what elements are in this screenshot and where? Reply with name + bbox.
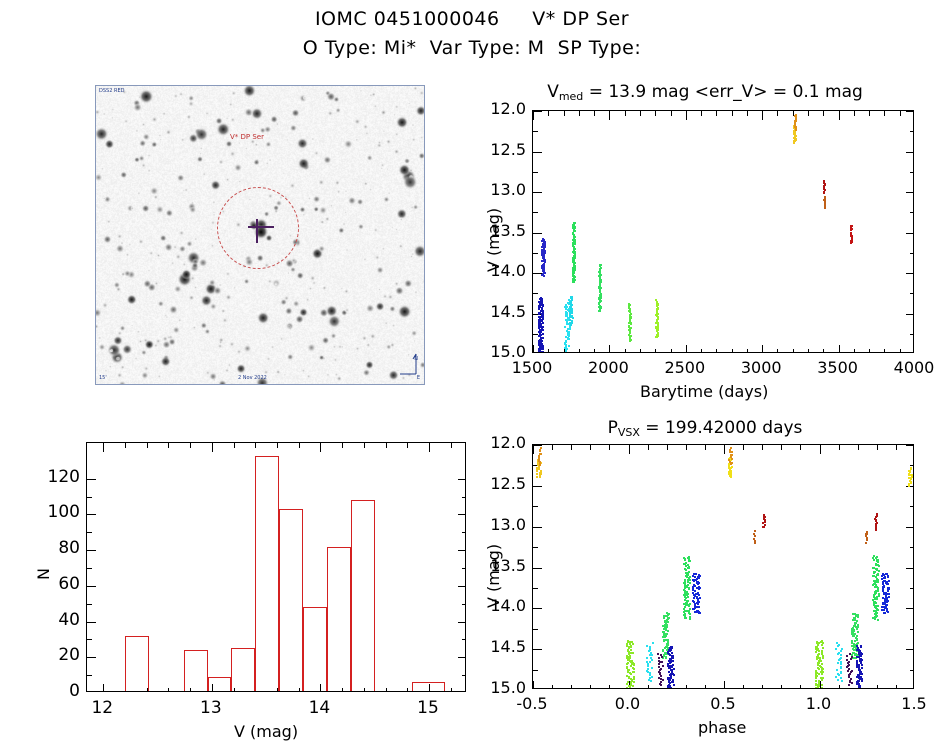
data-point: [541, 351, 543, 353]
axis-tick: [533, 629, 538, 630]
axis-tick: [705, 685, 706, 689]
y-tick-label: 13.0: [474, 515, 526, 534]
data-point: [795, 129, 797, 131]
axis-tick: [458, 550, 466, 551]
axis-tick: [808, 111, 809, 116]
axis-tick: [609, 111, 610, 120]
axis-tick: [533, 588, 538, 589]
data-point: [821, 673, 823, 675]
phase-plot-panel: PVSX = 199.42000 days phase V (mag) -0.5…: [470, 418, 940, 745]
data-point: [699, 612, 701, 614]
y-tick-label: 0: [28, 681, 80, 701]
data-point: [835, 648, 837, 650]
y-tick-label: 14.5: [474, 302, 526, 321]
axis-tick: [458, 657, 466, 658]
x-tick-label: 3500: [810, 358, 866, 377]
data-point: [651, 676, 653, 678]
phase-title-sub: VSX: [618, 426, 640, 439]
axis-tick: [407, 688, 408, 692]
data-point: [536, 476, 538, 478]
data-point: [626, 687, 628, 689]
axis-tick: [808, 349, 809, 353]
data-point: [848, 684, 850, 686]
axis-tick: [451, 688, 452, 692]
axis-tick: [320, 443, 321, 452]
data-point: [571, 299, 573, 301]
axis-tick: [743, 685, 744, 689]
data-point: [688, 605, 690, 607]
axis-tick: [762, 345, 763, 353]
data-point: [572, 317, 574, 319]
data-point: [877, 619, 879, 621]
axis-tick: [884, 111, 885, 116]
axis-tick: [462, 532, 466, 533]
data-point: [542, 322, 544, 324]
axis-tick: [686, 345, 687, 353]
axis-tick: [648, 685, 649, 689]
axis-tick: [854, 111, 855, 116]
data-point: [840, 650, 842, 652]
axis-tick: [858, 445, 859, 450]
data-point: [661, 661, 663, 663]
histogram-panel: V (mag) N 12131415020406080100120: [20, 430, 480, 745]
data-point: [539, 476, 541, 478]
data-point: [570, 324, 572, 326]
axis-tick: [777, 111, 778, 116]
data-point: [823, 192, 825, 194]
axis-tick: [386, 443, 387, 448]
data-point: [542, 333, 544, 335]
histogram-bar: [303, 607, 327, 692]
data-point: [817, 686, 819, 688]
axis-tick: [125, 443, 126, 448]
data-point: [861, 664, 863, 666]
axis-tick: [429, 443, 430, 452]
data-point: [861, 673, 863, 675]
axis-tick: [533, 670, 538, 671]
lightcurve-panel: Vmed = 13.9 mag <err_V> = 0.1 mag Baryti…: [470, 82, 940, 402]
data-point: [568, 345, 570, 347]
data-point: [698, 577, 700, 579]
data-point: [698, 588, 700, 590]
axis-tick: [212, 443, 213, 452]
y-tick-label: 14.0: [474, 596, 526, 615]
data-point: [821, 684, 823, 686]
axis-tick: [910, 629, 914, 630]
axis-tick: [910, 212, 914, 213]
data-point: [873, 572, 875, 574]
axis-tick: [777, 349, 778, 353]
data-point: [730, 476, 732, 478]
data-point: [815, 677, 817, 679]
data-point: [846, 655, 848, 657]
compass-icon: [398, 350, 420, 376]
axis-tick: [168, 443, 169, 448]
data-point: [821, 644, 823, 646]
data-point: [857, 631, 859, 633]
axis-tick: [877, 445, 878, 450]
data-point: [875, 529, 877, 531]
axis-tick: [910, 253, 914, 254]
data-point: [841, 680, 843, 682]
axis-tick: [594, 349, 595, 353]
axis-tick: [458, 514, 466, 515]
axis-tick: [724, 681, 725, 689]
data-point: [633, 664, 635, 666]
axis-tick: [87, 532, 92, 533]
y-tick-label: 12.5: [474, 140, 526, 159]
data-point: [878, 595, 880, 597]
axis-tick: [839, 685, 840, 689]
data-point: [821, 687, 823, 689]
x-tick-label: 4000: [886, 358, 942, 377]
axis-tick: [762, 445, 763, 450]
axis-tick: [571, 445, 572, 450]
data-point: [688, 588, 690, 590]
data-point: [668, 671, 670, 673]
axis-tick: [548, 349, 549, 353]
data-point: [854, 640, 856, 642]
axis-tick: [609, 345, 610, 353]
axis-tick: [87, 497, 92, 498]
axis-tick: [342, 443, 343, 448]
data-point: [877, 581, 879, 583]
x-tick-label: 1.5: [886, 694, 942, 713]
axis-tick: [655, 349, 656, 353]
axis-tick: [910, 506, 914, 507]
axis-tick: [407, 443, 408, 448]
histogram-baseline: [87, 691, 466, 692]
axis-tick: [906, 527, 914, 528]
data-point: [886, 583, 888, 585]
axis-tick: [781, 445, 782, 450]
axis-tick: [640, 111, 641, 116]
target-circle: [217, 187, 299, 269]
axis-tick: [533, 293, 538, 294]
data-point: [861, 667, 863, 669]
axis-tick: [533, 131, 538, 132]
y-tick-label: 40: [28, 610, 80, 630]
phase-plot-area[interactable]: [532, 444, 914, 689]
data-point: [818, 668, 820, 670]
axis-tick: [823, 111, 824, 116]
data-point: [887, 611, 889, 613]
axis-tick: [609, 445, 610, 450]
histogram-x-axis-label: V (mag): [234, 722, 298, 741]
axis-tick: [910, 334, 914, 335]
data-point: [840, 663, 842, 665]
x-tick-label: 14: [295, 698, 343, 718]
axis-tick: [906, 649, 914, 650]
axis-tick: [255, 443, 256, 448]
y-tick-label: 13.0: [474, 180, 526, 199]
finder-date-label: 2 Nov 2022: [238, 375, 267, 381]
data-point: [692, 608, 694, 610]
axis-tick: [87, 568, 92, 569]
data-point: [850, 658, 852, 660]
data-point: [849, 653, 851, 655]
data-point: [793, 142, 795, 144]
axis-tick: [234, 443, 235, 448]
data-point: [649, 661, 651, 663]
axis-tick: [732, 349, 733, 353]
axis-tick: [724, 445, 725, 454]
phase-title-text: = 199.42000 days: [640, 418, 803, 438]
lightcurve-title-text: = 13.9 mag <err_V> = 0.1 mag: [583, 82, 863, 102]
data-point: [888, 593, 890, 595]
data-point: [541, 352, 543, 353]
axis-tick: [458, 479, 466, 480]
data-point: [858, 687, 860, 689]
axis-tick: [910, 172, 914, 173]
axis-tick: [364, 443, 365, 448]
axis-tick: [548, 111, 549, 116]
data-point: [632, 688, 634, 690]
data-point: [657, 653, 659, 655]
axis-tick: [533, 345, 534, 353]
data-point: [650, 680, 652, 682]
finder-chart-panel: DSS2 RED 15' 2 Nov 2022 E N V* DP Ser: [95, 85, 425, 385]
axis-tick: [590, 445, 591, 450]
y-tick-label: 14.0: [474, 261, 526, 280]
axis-tick: [571, 685, 572, 689]
lightcurve-plot-area[interactable]: [532, 110, 914, 353]
data-point: [652, 642, 654, 644]
data-point: [540, 453, 542, 455]
axis-tick: [533, 111, 534, 120]
data-point: [673, 674, 675, 676]
data-point: [670, 687, 672, 689]
data-point: [651, 654, 653, 656]
x-tick-label: 2000: [580, 358, 636, 377]
data-point: [837, 653, 839, 655]
axis-tick: [533, 152, 542, 153]
data-point: [822, 647, 824, 649]
data-point: [698, 594, 700, 596]
finder-target-label: V* DP Ser: [230, 133, 264, 141]
axis-tick: [147, 443, 148, 448]
axis-tick: [533, 527, 542, 528]
axis-tick: [896, 685, 897, 689]
y-tick-label: 13.5: [474, 221, 526, 240]
data-point: [852, 613, 854, 615]
y-tick-label: 12.5: [474, 474, 526, 493]
x-tick-label: 0.0: [600, 694, 656, 713]
axis-tick: [686, 685, 687, 689]
data-point: [668, 687, 670, 689]
axis-tick: [743, 445, 744, 450]
data-point: [687, 574, 689, 576]
data-point: [865, 542, 867, 544]
data-point: [542, 348, 544, 350]
data-point: [673, 684, 675, 686]
axis-tick: [386, 688, 387, 692]
data-point: [568, 335, 570, 337]
axis-tick: [910, 465, 914, 466]
axis-tick: [906, 192, 914, 193]
phase-title-prefix: P: [608, 418, 618, 438]
axis-tick: [458, 622, 466, 623]
data-point: [856, 676, 858, 678]
axis-tick: [533, 192, 542, 193]
axis-tick: [609, 685, 610, 689]
axis-tick: [533, 445, 542, 446]
axis-tick: [451, 443, 452, 448]
axis-tick: [462, 639, 466, 640]
data-point: [665, 629, 667, 631]
axis-tick: [533, 608, 542, 609]
data-point: [656, 336, 658, 338]
finder-scale-label: 15': [99, 375, 107, 381]
axis-tick: [87, 675, 92, 676]
data-point: [687, 567, 689, 569]
data-point: [821, 679, 823, 681]
data-point: [877, 590, 879, 592]
data-point: [689, 618, 691, 620]
data-point: [837, 679, 839, 681]
histogram-plot-area[interactable]: [86, 442, 466, 692]
axis-tick: [640, 349, 641, 353]
data-point: [649, 677, 651, 679]
axis-tick: [762, 111, 763, 120]
y-tick-label: 14.5: [474, 637, 526, 656]
axis-tick: [701, 111, 702, 116]
crosshair-horizontal: [248, 226, 274, 228]
data-point: [672, 657, 674, 659]
data-point: [536, 470, 538, 472]
data-point: [754, 530, 756, 532]
data-point: [851, 682, 853, 684]
axis-tick: [800, 445, 801, 450]
iomc-data-sheet: IOMC 0451000046 V* DP Ser O Type: Mi* Va…: [0, 0, 944, 747]
data-point: [874, 618, 876, 620]
x-tick-label: 15: [404, 698, 452, 718]
data-point: [661, 656, 663, 658]
axis-tick: [87, 604, 92, 605]
x-tick-label: 1.0: [791, 694, 847, 713]
axis-tick: [910, 670, 914, 671]
axis-tick: [590, 685, 591, 689]
data-point: [884, 612, 886, 614]
axis-tick: [671, 349, 672, 353]
data-point: [632, 643, 634, 645]
axis-tick: [168, 688, 169, 692]
data-point: [633, 681, 635, 683]
data-point: [684, 559, 686, 561]
data-point: [887, 590, 889, 592]
axis-tick: [705, 445, 706, 450]
data-point: [857, 616, 859, 618]
axis-tick: [877, 685, 878, 689]
data-point: [754, 535, 756, 537]
axis-tick: [103, 443, 104, 452]
axis-tick: [906, 152, 914, 153]
data-point: [822, 657, 824, 659]
axis-tick: [896, 445, 897, 450]
axis-tick: [884, 349, 885, 353]
data-point: [660, 684, 662, 686]
axis-tick: [823, 349, 824, 353]
axis-tick: [910, 547, 914, 548]
axis-tick: [655, 111, 656, 116]
crosshair-vertical: [256, 219, 258, 243]
y-tick-label: 15.0: [474, 342, 526, 361]
data-point: [658, 666, 660, 668]
axis-tick: [906, 445, 914, 446]
axis-tick: [87, 586, 96, 587]
data-point: [659, 661, 661, 663]
axis-tick: [667, 445, 668, 450]
data-point: [646, 657, 648, 659]
axis-tick: [462, 568, 466, 569]
axis-tick: [906, 233, 914, 234]
data-point: [878, 570, 880, 572]
axis-tick: [762, 685, 763, 689]
data-point: [876, 598, 878, 600]
data-point: [662, 665, 664, 667]
axis-tick: [87, 550, 96, 551]
axis-tick: [533, 649, 542, 650]
x-tick-label: 13: [187, 698, 235, 718]
axis-tick: [910, 131, 914, 132]
data-point: [861, 680, 863, 682]
axis-tick: [277, 443, 278, 448]
data-point: [685, 617, 687, 619]
data-point: [649, 654, 651, 656]
axis-tick: [701, 349, 702, 353]
data-point: [818, 650, 820, 652]
data-point: [693, 597, 695, 599]
data-point: [818, 673, 820, 675]
data-point: [688, 560, 690, 562]
data-point: [542, 274, 544, 276]
axis-tick: [533, 506, 538, 507]
data-point: [633, 668, 635, 670]
axis-tick: [716, 111, 717, 116]
histogram-bar: [208, 677, 232, 692]
axis-tick: [462, 675, 466, 676]
axis-tick: [462, 497, 466, 498]
page-header: IOMC 0451000046 V* DP Ser O Type: Mi* Va…: [0, 8, 944, 59]
page-title: IOMC 0451000046 V* DP Ser: [0, 8, 944, 30]
axis-tick: [910, 293, 914, 294]
axis-tick: [648, 445, 649, 450]
lightcurve-title-sub: med: [559, 90, 583, 103]
data-point: [860, 646, 862, 648]
data-point: [665, 657, 667, 659]
axis-tick: [533, 111, 542, 112]
data-point: [651, 667, 653, 669]
axis-tick: [533, 486, 542, 487]
histogram-bar: [351, 500, 375, 692]
axis-tick: [820, 445, 821, 454]
axis-tick: [594, 111, 595, 116]
data-point: [633, 676, 635, 678]
data-point: [908, 474, 910, 476]
axis-tick: [906, 314, 914, 315]
data-point: [837, 662, 839, 664]
axis-tick: [906, 608, 914, 609]
axis-tick: [579, 111, 580, 116]
data-point: [569, 352, 571, 353]
axis-tick: [839, 345, 840, 353]
lightcurve-title-prefix: V: [547, 82, 559, 102]
phase-x-axis-label: phase: [698, 718, 746, 737]
axis-tick: [533, 172, 538, 173]
data-point: [836, 669, 838, 671]
axis-tick: [747, 349, 748, 353]
y-tick-label: 12.0: [474, 99, 526, 118]
